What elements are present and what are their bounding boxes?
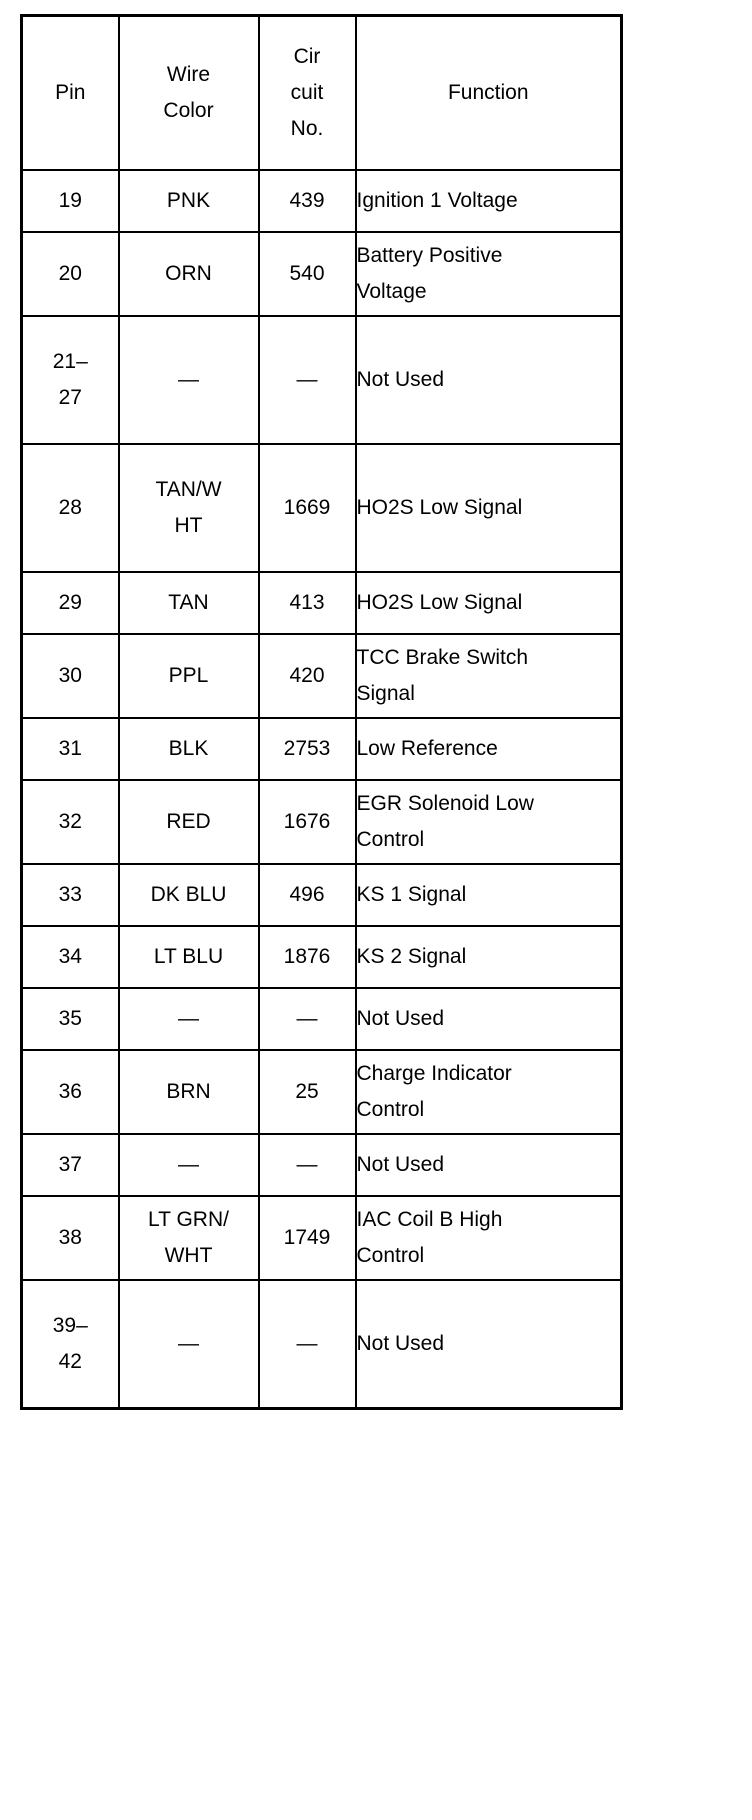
text-line: Battery Positive [357,238,621,274]
cell-circuit-no-lines: — [260,362,355,398]
table-row: 38LT GRN/WHT1749IAC Coil B HighControl [22,1196,622,1280]
cell-pin: 19 [22,170,119,232]
cell-circuit-no-lines: 1749 [260,1220,355,1256]
text-line: — [260,362,355,398]
cell-function-lines: Not Used [357,1001,621,1037]
cell-function: Not Used [356,988,622,1050]
text-line: 35 [23,1001,118,1037]
cell-function: Not Used [356,1280,622,1409]
cell-function: KS 2 Signal [356,926,622,988]
cell-wire-color: PNK [119,170,259,232]
text-line: LT BLU [120,939,258,975]
cell-wire-color: RED [119,780,259,864]
text-line: 1676 [260,804,355,840]
cell-pin: 28 [22,444,119,572]
header-line: No. [260,111,355,147]
text-line: PNK [120,183,258,219]
cell-circuit-no-lines: — [260,1001,355,1037]
header-line: Wire [120,57,258,93]
text-line: 27 [23,380,118,416]
text-line: RED [120,804,258,840]
cell-wire-color-lines: — [120,1147,258,1183]
text-line: 20 [23,256,118,292]
text-line: KS 1 Signal [357,877,621,913]
text-line: Not Used [357,362,621,398]
cell-wire-color: BLK [119,718,259,780]
cell-circuit-no-lines: 2753 [260,731,355,767]
text-line: PPL [120,658,258,694]
cell-circuit-no: 2753 [259,718,356,780]
text-line: BRN [120,1074,258,1110]
table-row: 39–42——Not Used [22,1280,622,1409]
cell-function-lines: IAC Coil B HighControl [357,1202,621,1274]
header-line: Cir [260,39,355,75]
cell-circuit-no: 1669 [259,444,356,572]
cell-circuit-no-lines: 1669 [260,490,355,526]
cell-circuit-no-lines: 420 [260,658,355,694]
connector-pinout-table: Pin WireColor CircuitNo. Function 19PNK4… [20,14,623,1410]
text-line: 33 [23,877,118,913]
cell-function: HO2S Low Signal [356,444,622,572]
table-header: Pin WireColor CircuitNo. Function [22,16,622,171]
cell-function-lines: KS 1 Signal [357,877,621,913]
column-header-pin: Pin [22,16,119,171]
cell-wire-color-lines: TAN [120,585,258,621]
table-row: 36BRN25Charge IndicatorControl [22,1050,622,1134]
cell-circuit-no: 496 [259,864,356,926]
cell-pin: 33 [22,864,119,926]
cell-function-lines: Charge IndicatorControl [357,1056,621,1128]
text-line: 413 [260,585,355,621]
header-line: Color [120,93,258,129]
cell-pin-lines: 38 [23,1220,118,1256]
cell-wire-color: — [119,1280,259,1409]
text-line: Control [357,1238,621,1274]
cell-circuit-no-lines: 1876 [260,939,355,975]
cell-wire-color-lines: — [120,362,258,398]
column-header-circuit-no-lines: CircuitNo. [260,39,355,147]
text-line: TCC Brake Switch [357,640,621,676]
cell-pin-lines: 33 [23,877,118,913]
text-line: 39– [23,1308,118,1344]
text-line: 38 [23,1220,118,1256]
cell-pin-lines: 34 [23,939,118,975]
cell-circuit-no: 1749 [259,1196,356,1280]
cell-circuit-no-lines: 540 [260,256,355,292]
cell-circuit-no-lines: 413 [260,585,355,621]
text-line: TAN/W [120,472,258,508]
cell-pin: 30 [22,634,119,718]
cell-circuit-no: — [259,316,356,444]
table-row: 34LT BLU1876KS 2 Signal [22,926,622,988]
cell-circuit-no: — [259,1134,356,1196]
cell-circuit-no-lines: — [260,1326,355,1362]
cell-wire-color: BRN [119,1050,259,1134]
cell-pin: 29 [22,572,119,634]
cell-circuit-no-lines: 25 [260,1074,355,1110]
cell-wire-color-lines: LT GRN/WHT [120,1202,258,1274]
cell-function-lines: HO2S Low Signal [357,585,621,621]
text-line: BLK [120,731,258,767]
text-line: — [120,1001,258,1037]
cell-wire-color-lines: LT BLU [120,939,258,975]
table-row: 35——Not Used [22,988,622,1050]
header-row: Pin WireColor CircuitNo. Function [22,16,622,171]
cell-function-lines: TCC Brake SwitchSignal [357,640,621,712]
text-line: 37 [23,1147,118,1183]
cell-function: Low Reference [356,718,622,780]
text-line: 30 [23,658,118,694]
text-line: 28 [23,490,118,526]
cell-function: HO2S Low Signal [356,572,622,634]
text-line: Voltage [357,274,621,310]
text-line: 1669 [260,490,355,526]
text-line: 496 [260,877,355,913]
cell-wire-color: PPL [119,634,259,718]
cell-pin-lines: 30 [23,658,118,694]
cell-wire-color: — [119,1134,259,1196]
text-line: Low Reference [357,731,621,767]
cell-function-lines: Battery PositiveVoltage [357,238,621,310]
cell-wire-color-lines: TAN/WHT [120,472,258,544]
text-line: ORN [120,256,258,292]
text-line: — [260,1001,355,1037]
text-line: 21– [23,344,118,380]
text-line: — [120,1147,258,1183]
cell-function-lines: Low Reference [357,731,621,767]
column-header-wire-color-lines: WireColor [120,57,258,129]
text-line: WHT [120,1238,258,1274]
text-line: Control [357,1092,621,1128]
text-line: Not Used [357,1326,621,1362]
cell-circuit-no: 1676 [259,780,356,864]
cell-pin-lines: 21–27 [23,344,118,416]
cell-function-lines: Not Used [357,1326,621,1362]
text-line: 19 [23,183,118,219]
text-line: 1876 [260,939,355,975]
cell-circuit-no-lines: — [260,1147,355,1183]
cell-wire-color-lines: DK BLU [120,877,258,913]
cell-wire-color-lines: RED [120,804,258,840]
cell-circuit-no: 413 [259,572,356,634]
cell-pin-lines: 20 [23,256,118,292]
cell-circuit-no: — [259,1280,356,1409]
cell-function: KS 1 Signal [356,864,622,926]
text-line: HT [120,508,258,544]
text-line: 32 [23,804,118,840]
cell-pin: 38 [22,1196,119,1280]
text-line: — [260,1326,355,1362]
cell-function: Charge IndicatorControl [356,1050,622,1134]
cell-pin: 20 [22,232,119,316]
cell-circuit-no: 420 [259,634,356,718]
cell-function-lines: HO2S Low Signal [357,490,621,526]
cell-circuit-no: 1876 [259,926,356,988]
cell-function: IAC Coil B HighControl [356,1196,622,1280]
cell-pin-lines: 35 [23,1001,118,1037]
cell-wire-color: TAN/WHT [119,444,259,572]
cell-circuit-no-lines: 439 [260,183,355,219]
cell-pin: 37 [22,1134,119,1196]
cell-wire-color-lines: — [120,1001,258,1037]
text-line: EGR Solenoid Low [357,786,621,822]
text-line: Not Used [357,1001,621,1037]
cell-function: Not Used [356,316,622,444]
table-row: 19PNK439Ignition 1 Voltage [22,170,622,232]
text-line: — [120,1326,258,1362]
cell-pin: 35 [22,988,119,1050]
text-line: TAN [120,585,258,621]
cell-pin: 21–27 [22,316,119,444]
column-header-wire-color: WireColor [119,16,259,171]
cell-function-lines: Not Used [357,362,621,398]
column-header-pin-lines: Pin [23,75,118,111]
cell-pin-lines: 29 [23,585,118,621]
table-row: 30PPL420TCC Brake SwitchSignal [22,634,622,718]
text-line: Charge Indicator [357,1056,621,1092]
cell-circuit-no: 25 [259,1050,356,1134]
cell-pin-lines: 31 [23,731,118,767]
text-line: 42 [23,1344,118,1380]
text-line: 34 [23,939,118,975]
cell-wire-color: — [119,316,259,444]
cell-pin-lines: 37 [23,1147,118,1183]
cell-pin: 39–42 [22,1280,119,1409]
cell-pin-lines: 36 [23,1074,118,1110]
table-row: 32RED1676EGR Solenoid LowControl [22,780,622,864]
cell-pin-lines: 39–42 [23,1308,118,1380]
text-line: 540 [260,256,355,292]
text-line: HO2S Low Signal [357,490,621,526]
column-header-function-lines: Function [357,75,621,111]
cell-circuit-no-lines: 1676 [260,804,355,840]
cell-circuit-no: 439 [259,170,356,232]
text-line: 2753 [260,731,355,767]
cell-wire-color-lines: ORN [120,256,258,292]
table-row: 37——Not Used [22,1134,622,1196]
text-line: KS 2 Signal [357,939,621,975]
header-line: Function [357,75,621,111]
cell-wire-color-lines: PPL [120,658,258,694]
text-line: DK BLU [120,877,258,913]
text-line: Signal [357,676,621,712]
cell-circuit-no: 540 [259,232,356,316]
cell-wire-color: — [119,988,259,1050]
text-line: 29 [23,585,118,621]
table-body: 19PNK439Ignition 1 Voltage20ORN540Batter… [22,170,622,1409]
cell-pin-lines: 32 [23,804,118,840]
text-line: HO2S Low Signal [357,585,621,621]
column-header-circuit-no: CircuitNo. [259,16,356,171]
column-header-function: Function [356,16,622,171]
cell-wire-color-lines: — [120,1326,258,1362]
cell-function: TCC Brake SwitchSignal [356,634,622,718]
cell-function: Not Used [356,1134,622,1196]
cell-circuit-no: — [259,988,356,1050]
header-line: cuit [260,75,355,111]
table-row: 21–27——Not Used [22,316,622,444]
cell-pin: 32 [22,780,119,864]
text-line: — [260,1147,355,1183]
cell-function-lines: KS 2 Signal [357,939,621,975]
cell-wire-color-lines: BLK [120,731,258,767]
cell-pin: 34 [22,926,119,988]
text-line: 25 [260,1074,355,1110]
cell-pin-lines: 19 [23,183,118,219]
cell-function: Ignition 1 Voltage [356,170,622,232]
cell-function-lines: Not Used [357,1147,621,1183]
cell-wire-color: TAN [119,572,259,634]
text-line: — [120,362,258,398]
cell-wire-color: DK BLU [119,864,259,926]
text-line: 36 [23,1074,118,1110]
text-line: 31 [23,731,118,767]
cell-function-lines: Ignition 1 Voltage [357,183,621,219]
table-row: 33DK BLU496KS 1 Signal [22,864,622,926]
text-line: LT GRN/ [120,1202,258,1238]
cell-wire-color: LT GRN/WHT [119,1196,259,1280]
cell-pin: 31 [22,718,119,780]
table-row: 31BLK2753Low Reference [22,718,622,780]
text-line: 420 [260,658,355,694]
cell-pin-lines: 28 [23,490,118,526]
table-row: 29TAN413HO2S Low Signal [22,572,622,634]
cell-pin: 36 [22,1050,119,1134]
cell-function: EGR Solenoid LowControl [356,780,622,864]
pinout-table-container: Pin WireColor CircuitNo. Function 19PNK4… [20,14,620,1410]
cell-function: Battery PositiveVoltage [356,232,622,316]
text-line: 1749 [260,1220,355,1256]
cell-wire-color-lines: PNK [120,183,258,219]
header-line: Pin [23,75,118,111]
cell-wire-color: LT BLU [119,926,259,988]
table-row: 28TAN/WHT1669HO2S Low Signal [22,444,622,572]
text-line: IAC Coil B High [357,1202,621,1238]
cell-wire-color-lines: BRN [120,1074,258,1110]
text-line: Control [357,822,621,858]
text-line: Ignition 1 Voltage [357,183,621,219]
cell-function-lines: EGR Solenoid LowControl [357,786,621,858]
text-line: Not Used [357,1147,621,1183]
table-row: 20ORN540Battery PositiveVoltage [22,232,622,316]
cell-wire-color: ORN [119,232,259,316]
cell-circuit-no-lines: 496 [260,877,355,913]
text-line: 439 [260,183,355,219]
